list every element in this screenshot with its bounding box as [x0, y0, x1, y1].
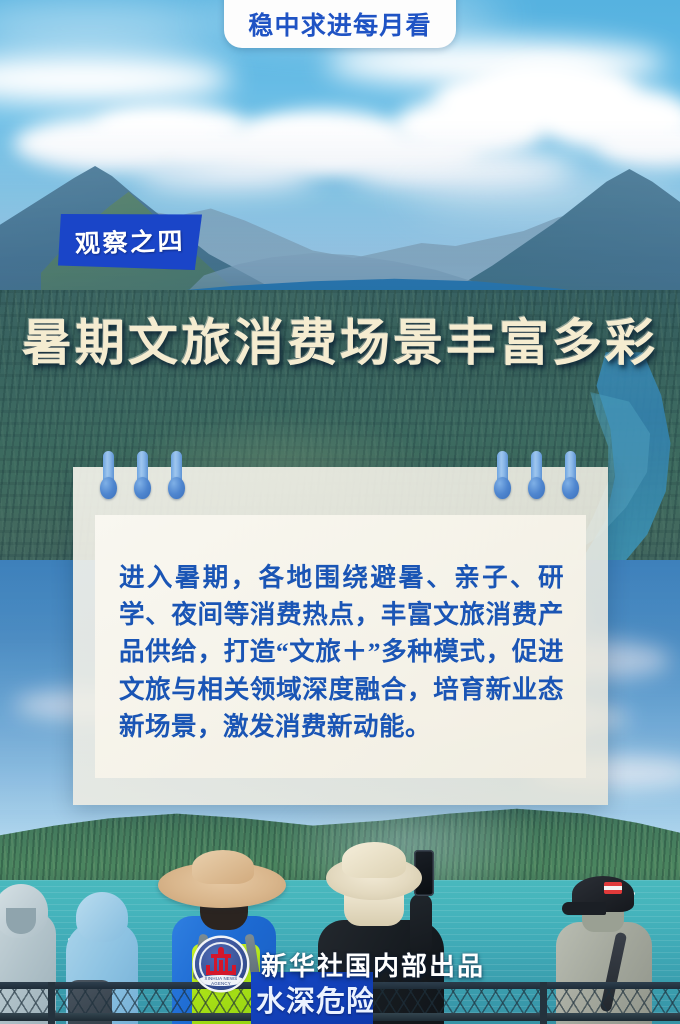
ring-head: [168, 477, 185, 499]
railing-post: [48, 982, 55, 1024]
ring-head: [528, 477, 545, 499]
water-depth-warning-sign: 水深危险: [251, 972, 373, 1024]
tourist-hood: [76, 892, 128, 942]
note-card: 进入暑期，各地围绕避暑、亲子、研学、夜间等消费热点，丰富文旅消费产品供给，打造“…: [73, 467, 608, 805]
binding-ring: [134, 451, 151, 501]
poster-root: 水深危险 稳中求进每月看 观察之四 暑期文旅消费场景丰富多彩 进入暑期，各地围绕…: [0, 0, 680, 1024]
binding-ring: [562, 451, 579, 501]
binding-ring: [168, 451, 185, 501]
ring-head: [562, 477, 579, 499]
flag-patch-icon: [604, 882, 622, 894]
cap-brim: [562, 902, 606, 915]
bucket-hat-crown: [342, 842, 406, 878]
observation-number-tag: 观察之四: [58, 214, 202, 270]
tourist-face: [6, 908, 36, 934]
page-title: 暑期文旅消费场景丰富多彩: [0, 303, 680, 375]
note-body-text: 进入暑期，各地围绕避暑、亲子、研学、夜间等消费热点，丰富文旅消费产品供给，打造“…: [119, 559, 564, 745]
binding-ring: [494, 451, 511, 501]
ring-head: [134, 477, 151, 499]
observation-number-label: 观察之四: [74, 221, 185, 260]
binding-ring: [100, 451, 117, 501]
ring-head: [100, 477, 117, 499]
note-card-inner: 进入暑期，各地围绕避暑、亲子、研学、夜间等消费热点，丰富文旅消费产品供给，打造“…: [95, 515, 586, 778]
warning-sign-text: 水深危险: [256, 978, 373, 1020]
top-series-badge[interactable]: 稳中求进每月看: [224, 0, 456, 48]
top-series-badge-label: 稳中求进每月看: [248, 14, 431, 39]
ring-head: [494, 477, 511, 499]
railing-post: [540, 982, 547, 1024]
sun-hat-crown: [192, 850, 254, 884]
binding-ring: [528, 451, 545, 501]
tourist-arm: [410, 894, 432, 954]
